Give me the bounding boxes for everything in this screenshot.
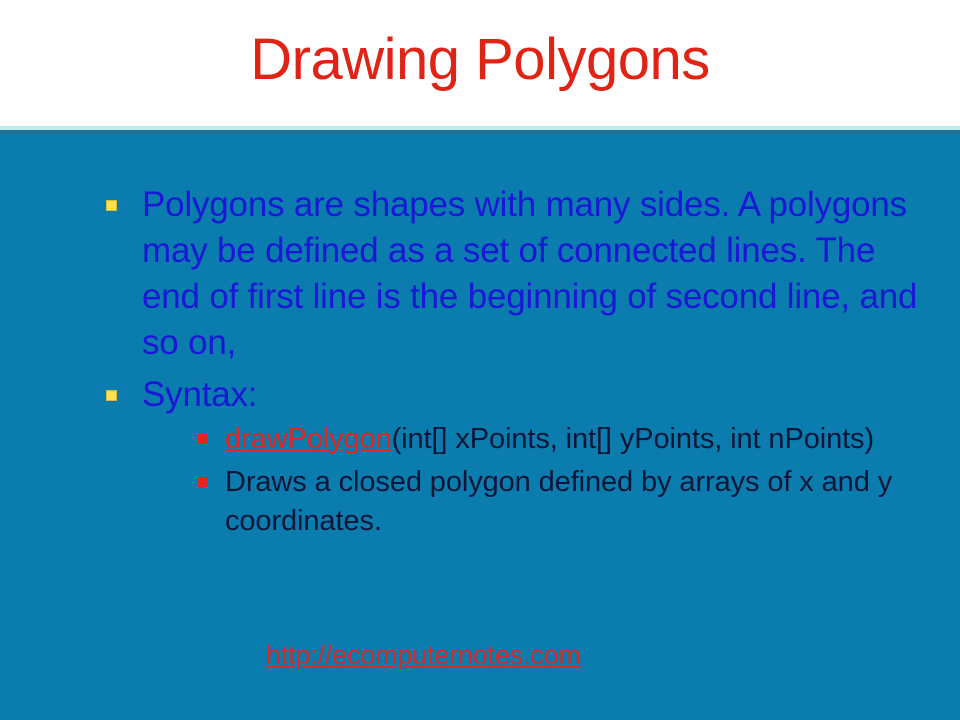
square-bullet-icon — [198, 477, 208, 487]
title-band: Drawing Polygons — [0, 0, 960, 126]
website-link[interactable]: http://ecomputernotes.com — [266, 639, 581, 671]
sub-bullet-list: drawPolygon(int[] xPoints, int[] yPoints… — [142, 420, 930, 541]
page-title: Drawing Polygons — [0, 26, 960, 94]
bullet-text-syntax: Syntax: — [142, 372, 930, 418]
sub-bullet-signature: drawPolygon(int[] xPoints, int[] yPoints… — [225, 420, 930, 459]
list-item: Syntax: drawPolygon(int[] xPoints, int[]… — [100, 372, 930, 541]
list-item: Polygons are shapes with many sides. A p… — [100, 182, 930, 366]
list-item: drawPolygon(int[] xPoints, int[] yPoints… — [198, 420, 930, 459]
square-bullet-icon — [106, 390, 117, 401]
method-name: drawPolygon — [225, 423, 392, 455]
slide-body: Polygons are shapes with many sides. A p… — [0, 134, 960, 720]
square-bullet-icon — [106, 200, 117, 211]
list-item: Draws a closed polygon defined by arrays… — [198, 463, 930, 541]
method-signature: (int[] xPoints, int[] yPoints, int nPoin… — [392, 423, 874, 455]
square-bullet-icon — [198, 434, 208, 444]
bullet-list: Polygons are shapes with many sides. A p… — [100, 182, 930, 547]
bullet-text-intro: Polygons are shapes with many sides. A p… — [142, 182, 930, 366]
slide: Drawing Polygons Polygons are shapes wit… — [0, 0, 960, 720]
sub-bullet-description: Draws a closed polygon defined by arrays… — [225, 463, 930, 541]
